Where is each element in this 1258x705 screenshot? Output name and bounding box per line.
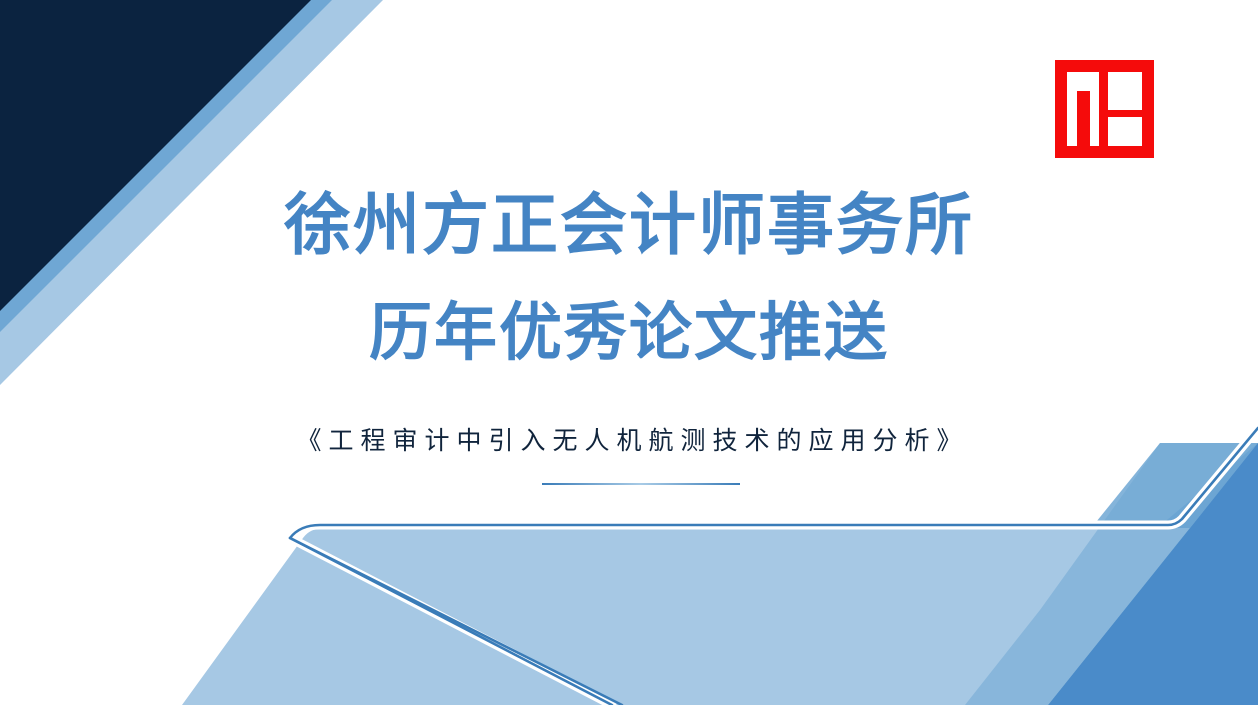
presentation-slide: 徐州方正会计师事务所 历年优秀论文推送 《工程审计中引入无人机航测技术的应用分析… [0, 0, 1258, 705]
slide-text-block: 徐州方正会计师事务所 历年优秀论文推送 《工程审计中引入无人机航测技术的应用分析… [0, 0, 1258, 705]
title-divider-line [542, 483, 740, 485]
slide-title-line-1: 徐州方正会计师事务所 [0, 192, 1258, 259]
slide-subtitle: 《工程审计中引入无人机航测技术的应用分析》 [0, 428, 1258, 453]
slide-title-line-2: 历年优秀论文推送 [0, 301, 1258, 364]
